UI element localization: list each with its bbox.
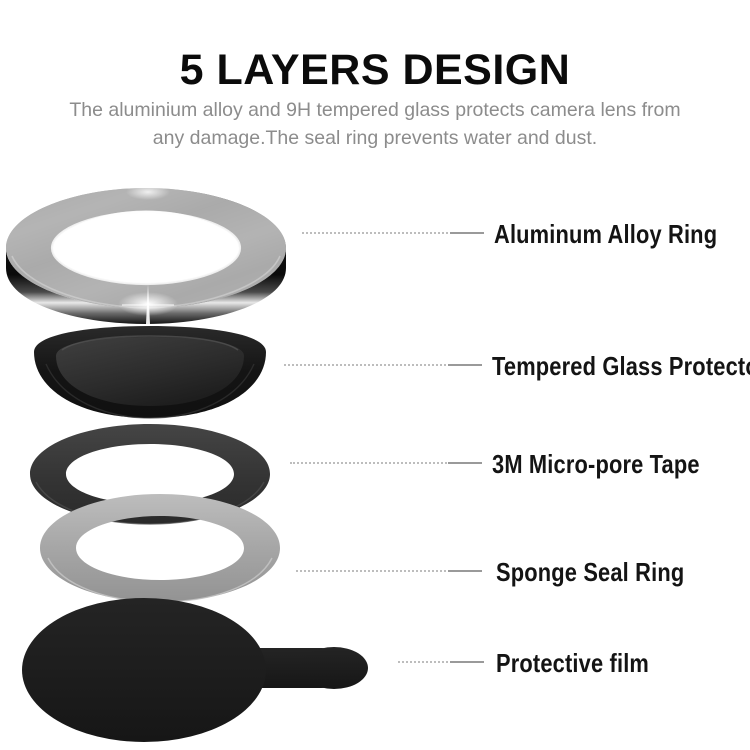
leader-solid-segment — [450, 661, 484, 663]
layer-art-tempered-glass-protector — [28, 326, 272, 430]
leader-line-aluminum-alloy-ring — [302, 232, 484, 234]
leader-line-sponge-seal-ring — [296, 570, 482, 572]
infographic-page: 5 LAYERS DESIGN The aluminium alloy and … — [0, 0, 750, 750]
leader-line-3m-micro-pore-tape — [290, 462, 482, 464]
exploded-view-diagram: Aluminum Alloy Ring Tempered Glass Prote… — [0, 0, 750, 750]
layer-art-aluminum-alloy-ring — [2, 172, 290, 324]
leader-solid-segment — [448, 462, 482, 464]
layer-label-3m-micro-pore-tape: 3M Micro-pore Tape — [492, 450, 700, 478]
protective-film-icon — [18, 596, 388, 746]
aluminum-alloy-ring-icon — [2, 172, 290, 324]
leader-line-protective-film — [398, 661, 484, 663]
layer-art-protective-film — [18, 596, 388, 746]
tempered-glass-disc-icon — [28, 326, 272, 430]
layer-art-sponge-seal-ring — [36, 490, 284, 606]
leader-solid-segment — [448, 570, 482, 572]
layer-label-aluminum-alloy-ring: Aluminum Alloy Ring — [494, 220, 717, 248]
leader-line-tempered-glass-protector — [284, 364, 482, 366]
layer-label-tempered-glass-protector: Tempered Glass Protector — [492, 352, 750, 380]
layer-label-protective-film: Protective film — [496, 649, 649, 677]
layer-label-sponge-seal-ring: Sponge Seal Ring — [496, 558, 684, 586]
leader-solid-segment — [450, 232, 484, 234]
leader-solid-segment — [448, 364, 482, 366]
sponge-seal-ring-icon — [36, 490, 284, 606]
